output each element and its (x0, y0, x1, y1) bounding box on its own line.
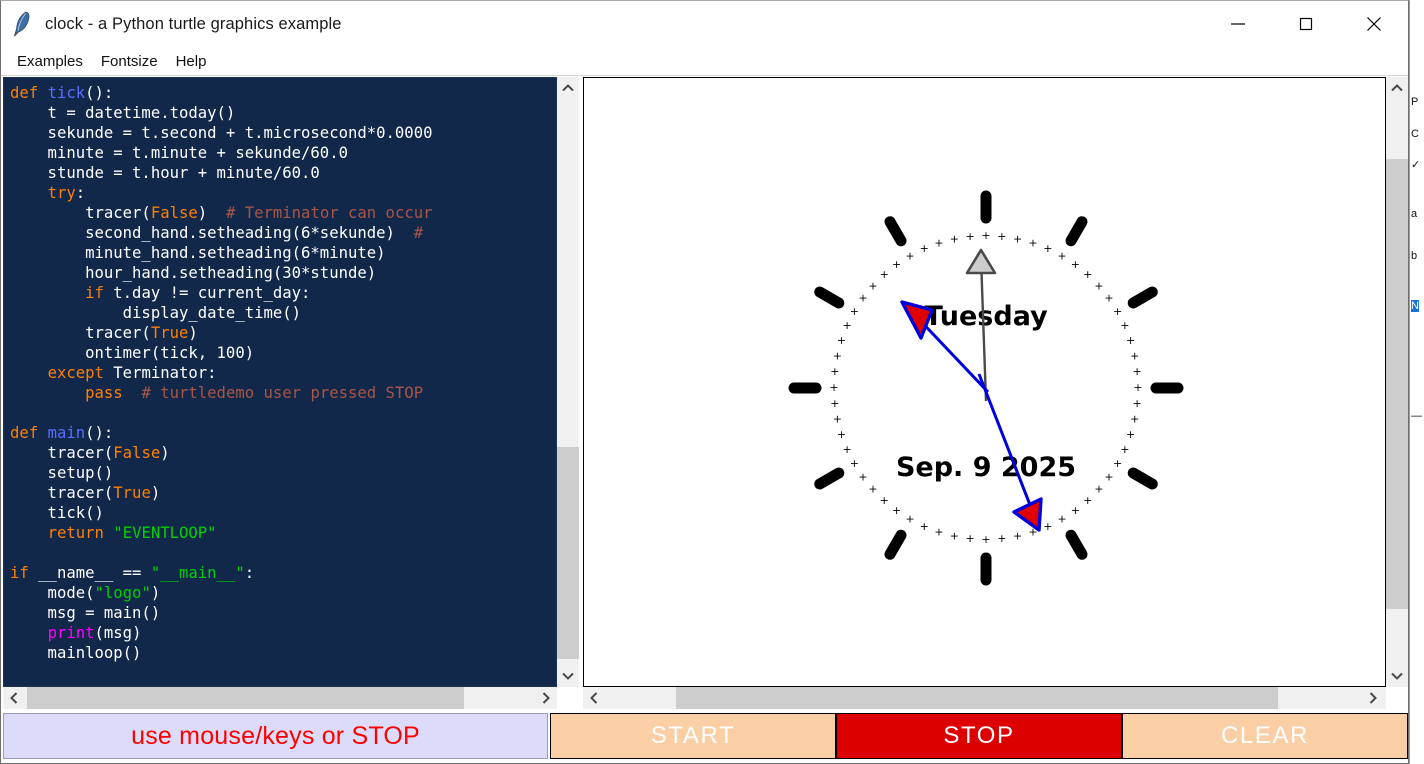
clock-minute-tick: + (1094, 279, 1103, 292)
clock-minute-tick: + (850, 457, 859, 470)
source-code-view[interactable]: def tick(): t = datetime.today() sekunde… (3, 77, 557, 687)
clock-minute-tick: + (833, 413, 842, 426)
code-token: minute = t.minute + sekunde/60.0 (10, 144, 348, 162)
code-token: sekunde = t.second + t.microsecond*0.000… (10, 124, 432, 142)
menu-item-examples[interactable]: Examples (8, 51, 92, 72)
clock-minute-tick: + (1130, 413, 1139, 426)
background-text-fragment: C (1411, 128, 1419, 140)
turtledemo-window: clock - a Python turtle graphics example (0, 0, 1409, 764)
code-token: (): (85, 424, 113, 442)
clock-minute-tick: + (1057, 513, 1066, 526)
canvas-horizontal-scrollbar[interactable] (583, 687, 1386, 709)
clock-minute-tick: + (880, 268, 889, 281)
code-token: "logo" (95, 584, 151, 602)
editor-vertical-scroll-thumb[interactable] (557, 447, 579, 659)
clock-minute-tick: + (868, 483, 877, 496)
background-text-fragment-selected: N (1411, 300, 1419, 312)
clock-hour-tick (890, 222, 901, 241)
clock-minute-tick: + (892, 258, 901, 271)
clock-minute-tick: + (1043, 520, 1052, 533)
code-token: tick() (10, 504, 104, 522)
code-token: ) (188, 324, 197, 342)
code-token: except (48, 364, 104, 382)
code-token: return (48, 524, 104, 542)
code-token: def (10, 84, 38, 102)
code-token: __name__ == (29, 564, 151, 582)
code-token: ) (160, 444, 169, 462)
code-token: mode( (10, 584, 95, 602)
clock-minute-tick: + (1104, 470, 1113, 483)
clock-hour-tick (890, 535, 901, 554)
code-token: True (113, 484, 151, 502)
code-token: Terminator: (104, 364, 217, 382)
clock-minute-tick: + (1013, 530, 1022, 543)
code-token: print (48, 624, 95, 642)
clock-minute-tick: + (833, 349, 842, 362)
code-token: False (113, 444, 160, 462)
clock-minute-tick: + (1120, 319, 1129, 332)
clock-minute-tick: + (934, 526, 943, 539)
clock-minute-tick: + (1133, 381, 1142, 394)
menu-bar: Examples Fontsize Help (1, 47, 1408, 76)
code-token: False (151, 204, 198, 222)
clock-minute-tick: + (950, 530, 959, 543)
clock-drawing: ++++++++++++++++++++++++++++++++++++++++… (584, 78, 1386, 687)
chevron-left-icon[interactable] (3, 687, 25, 709)
code-token: if (85, 284, 104, 302)
status-message-box: use mouse/keys or STOP (3, 713, 548, 759)
source-code-text: def tick(): t = datetime.today() sekunde… (4, 78, 556, 663)
clock-minute-tick: + (1126, 334, 1135, 347)
status-message: use mouse/keys or STOP (131, 722, 420, 751)
close-button[interactable] (1340, 1, 1408, 47)
background-text-fragment: ✓ (1411, 158, 1420, 171)
clock-minute-tick: + (1094, 483, 1103, 496)
clock-minute-tick: + (997, 230, 1006, 243)
code-token: def (10, 424, 38, 442)
code-token (10, 384, 85, 402)
clock-hour-tick (1071, 222, 1082, 241)
clock-minute-tick: + (950, 232, 959, 245)
code-token: hour_hand.setheading(30*stunde) (10, 264, 376, 282)
clock-hour-tick (1133, 473, 1152, 484)
minimize-icon (1227, 13, 1249, 35)
bottom-bar: use mouse/keys or STOP START STOP CLEAR (1, 711, 1408, 763)
clock-minute-tick: + (843, 443, 852, 456)
code-token: "EVENTLOOP" (113, 524, 216, 542)
window-controls (1204, 1, 1408, 47)
clock-minute-tick: + (966, 230, 975, 243)
clock-minute-tick: + (905, 249, 914, 262)
menu-item-fontsize[interactable]: Fontsize (92, 51, 167, 72)
canvas-vertical-scroll-thumb[interactable] (1386, 159, 1408, 609)
code-token: msg = main() (10, 604, 160, 622)
canvas-horizontal-scroll-thumb[interactable] (676, 687, 1278, 709)
chevron-down-icon[interactable] (557, 665, 579, 687)
clock-hour-tick (820, 473, 839, 484)
code-token: ) (151, 584, 160, 602)
chevron-up-icon[interactable] (1386, 77, 1408, 99)
code-token (10, 184, 48, 202)
menu-item-help[interactable]: Help (167, 51, 216, 72)
clock-minute-tick: + (850, 305, 859, 318)
code-token: mainloop() (10, 644, 141, 662)
clock-minute-tick: + (905, 513, 914, 526)
clear-button[interactable]: CLEAR (1122, 713, 1408, 759)
clock-minute-tick: + (1028, 236, 1037, 249)
code-token: ) (198, 204, 226, 222)
code-token (10, 624, 48, 642)
clock-minute-tick: + (892, 504, 901, 517)
code-token (104, 524, 113, 542)
code-token: (): (85, 84, 113, 102)
clock-minute-tick: + (1120, 443, 1129, 456)
code-token: "__main__" (151, 564, 245, 582)
clock-minute-tick: + (837, 428, 846, 441)
code-token (10, 524, 48, 542)
clock-minute-tick: + (1113, 457, 1122, 470)
code-token (38, 84, 47, 102)
code-token: try (48, 184, 76, 202)
clock-minute-tick: + (1133, 365, 1142, 378)
clock-minute-tick: + (1013, 232, 1022, 245)
code-token: # turtledemo user pressed STOP (141, 384, 423, 402)
clock-minute-tick: + (1133, 397, 1142, 410)
code-token: stunde = t.hour + minute/60.0 (10, 164, 320, 182)
clock-minute-tick: + (1104, 292, 1113, 305)
python-feather-icon (13, 11, 35, 37)
clock-minute-tick: + (829, 381, 838, 394)
clock-minute-tick: + (934, 236, 943, 249)
close-icon (1363, 13, 1385, 35)
clock-hour-tick (1071, 535, 1082, 554)
title-bar: clock - a Python turtle graphics example (1, 1, 1408, 47)
code-token: ontimer(tick, 100) (10, 344, 254, 362)
code-token: # (414, 224, 423, 242)
clock-minute-tick: + (830, 397, 839, 410)
code-token: (msg) (95, 624, 142, 642)
background-text-fragment: b (1411, 250, 1417, 262)
code-token (10, 364, 48, 382)
chevron-down-icon[interactable] (1386, 665, 1408, 687)
start-button[interactable]: START (550, 713, 836, 759)
clock-minute-tick: + (1043, 242, 1052, 255)
code-token: main (48, 424, 86, 442)
code-token: t.day != current_day: (104, 284, 311, 302)
chevron-left-icon[interactable] (583, 687, 605, 709)
clock-minute-tick: + (1113, 305, 1122, 318)
canvas-vertical-scrollbar[interactable] (1386, 77, 1408, 687)
turtle-canvas[interactable]: ++++++++++++++++++++++++++++++++++++++++… (583, 77, 1386, 687)
code-token: tracer( (10, 484, 113, 502)
chevron-right-icon[interactable] (535, 687, 557, 709)
clock-minute-tick: + (997, 532, 1006, 545)
background-text-fragment: a (1411, 208, 1417, 220)
minimize-button[interactable] (1204, 1, 1272, 47)
clock-minute-tick: + (981, 533, 990, 546)
clock-weekday-label: Tuesday (924, 301, 1048, 332)
code-token: if (10, 564, 29, 582)
code-token: setup() (10, 464, 113, 482)
clock-minute-tick: + (1083, 494, 1092, 507)
code-token: : (76, 184, 85, 202)
content-area: def tick(): t = datetime.today() sekunde… (1, 77, 1408, 711)
clock-minute-tick: + (1071, 504, 1080, 517)
stop-button[interactable]: STOP (836, 713, 1122, 759)
clock-minute-tick: + (966, 532, 975, 545)
background-window[interactable]: P C ✓ a b N — (1409, 0, 1424, 764)
clock-minute-tick: + (1057, 249, 1066, 262)
clock-minute-tick: + (858, 292, 867, 305)
screen: P C ✓ a b N — clock - a Python turtle gr… (0, 0, 1424, 764)
maximize-icon (1295, 13, 1317, 35)
code-token: second_hand.setheading(6*sekunde) (10, 224, 414, 242)
clock-minute-tick: + (981, 229, 990, 242)
code-token (123, 384, 142, 402)
turtle-canvas-pane: ++++++++++++++++++++++++++++++++++++++++… (583, 77, 1408, 711)
code-token (38, 424, 47, 442)
code-token: t = datetime.today() (10, 104, 235, 122)
background-text-fragment: P (1411, 96, 1418, 108)
editor-horizontal-scrollbar[interactable] (3, 687, 557, 709)
maximize-button[interactable] (1272, 1, 1340, 47)
clock-minute-tick: + (1083, 268, 1092, 281)
clock-minute-tick: + (1126, 428, 1135, 441)
source-pane: def tick(): t = datetime.today() sekunde… (3, 77, 579, 711)
editor-vertical-scrollbar[interactable] (557, 77, 579, 687)
code-token: tick (48, 84, 86, 102)
code-token: ) (151, 484, 160, 502)
clock-minute-tick: + (1071, 258, 1080, 271)
code-token: # Terminator can occur (226, 204, 433, 222)
clock-minute-tick: + (880, 494, 889, 507)
clock-minute-tick: + (830, 365, 839, 378)
code-token: display_date_time() (10, 304, 301, 322)
code-token: tracer( (10, 324, 151, 342)
clock-hour-tick (820, 292, 839, 303)
clock-minute-tick: + (920, 242, 929, 255)
clock-minute-tick: + (843, 319, 852, 332)
chevron-right-icon[interactable] (1362, 687, 1384, 709)
clock-minute-tick: + (1130, 349, 1139, 362)
clock-minute-tick: + (858, 470, 867, 483)
clock-minute-tick: + (868, 279, 877, 292)
code-token: True (151, 324, 189, 342)
window-title: clock - a Python turtle graphics example (45, 15, 342, 34)
background-text-fragment: — (1411, 410, 1422, 422)
code-token: minute_hand.setheading(6*minute) (10, 244, 386, 262)
code-token (10, 284, 85, 302)
chevron-up-icon[interactable] (557, 77, 579, 99)
clock-hour-tick (1133, 292, 1152, 303)
code-token: pass (85, 384, 123, 402)
editor-horizontal-scroll-thumb[interactable] (27, 687, 464, 709)
code-token: tracer( (10, 204, 151, 222)
code-token: tracer( (10, 444, 113, 462)
code-token: : (245, 564, 254, 582)
clock-date-label: Sep. 9 2025 (896, 452, 1076, 483)
clock-minute-tick: + (920, 520, 929, 533)
clock-minute-tick: + (837, 334, 846, 347)
